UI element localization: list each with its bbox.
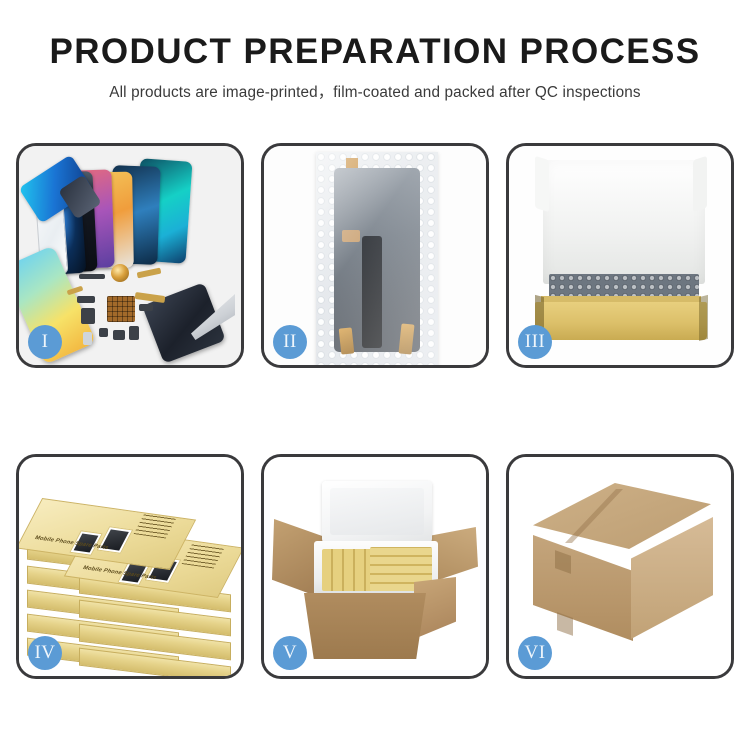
step-badge-3: III (518, 325, 552, 359)
spare-part-connector-b (139, 304, 153, 311)
step-badge-4: IV (28, 636, 62, 670)
spare-part-speaker (79, 274, 105, 279)
spare-part-button (99, 328, 108, 337)
process-steps-grid: I II (16, 143, 734, 679)
foam-liner-right-flap (693, 156, 707, 213)
bubble-wrap-sheen (316, 152, 438, 365)
process-step-panel-1[interactable]: I (16, 143, 244, 368)
wireless-charging-coil-icon (111, 264, 129, 282)
page-subtitle: All products are image-printed，film-coat… (0, 80, 750, 102)
yellow-box-front-wall (535, 302, 707, 340)
process-step-panel-4[interactable]: Mobile Phone Spare Parts Mobile Phone Sp… (16, 454, 244, 679)
foam-liner-left-flap (535, 156, 549, 213)
spare-part-bracket (81, 308, 95, 324)
process-step-panel-3[interactable]: III (506, 143, 734, 368)
logic-board-chip (107, 296, 135, 322)
spare-part-connector-a (77, 296, 95, 303)
step-badge-2: II (273, 325, 307, 359)
process-step-panel-6[interactable]: VI (506, 454, 734, 679)
foam-case-lid-inner (330, 488, 424, 535)
yellow-box-right-edge (699, 295, 708, 341)
bubble-wrap-bag (316, 152, 438, 365)
spare-part-sensor (129, 326, 139, 340)
step-badge-5: V (273, 636, 307, 670)
foam-liner-back (543, 160, 705, 284)
spare-part-camera (113, 330, 125, 340)
page-title: PRODUCT PREPARATION PROCESS (0, 34, 750, 71)
process-step-panel-2[interactable]: II (261, 143, 489, 368)
spare-part-sim-tray (83, 332, 92, 345)
step-badge-6: VI (518, 636, 552, 670)
page-header: PRODUCT PREPARATION PROCESS All products… (0, 0, 750, 102)
carton-front-panel (304, 593, 426, 659)
process-step-panel-5[interactable]: V (261, 454, 489, 679)
step-badge-1: I (28, 325, 62, 359)
